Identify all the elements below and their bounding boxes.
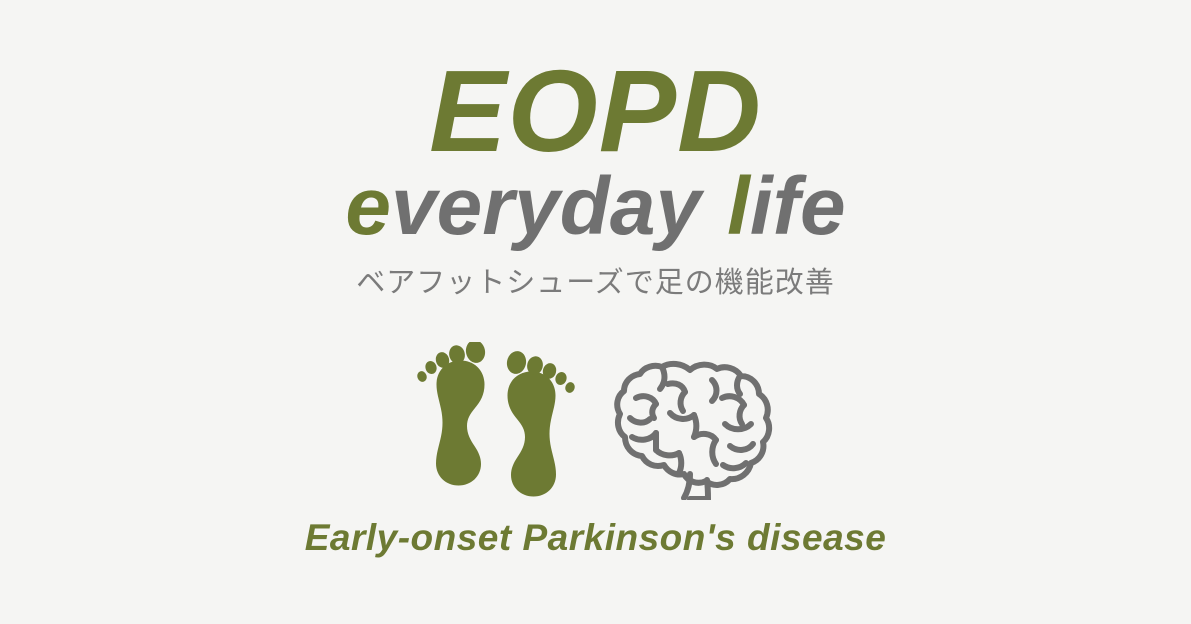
brand-tagline: ベアフットシューズで足の機能改善 [0, 265, 1191, 300]
brain-icon [612, 358, 775, 500]
subtitle-word-life: ife [750, 161, 846, 252]
page-title: EOPD [0, 53, 1191, 169]
logo-banner: EOPD everydaylife ベアフットシューズで足の機能改善 [0, 0, 1191, 624]
brand-caption: Early-onset Parkinson's disease [0, 519, 1191, 556]
subtitle-accent-letter-e: e [345, 161, 391, 252]
footprints-icon [416, 342, 576, 497]
icon-row [0, 342, 1191, 497]
brand-subtitle: everydaylife [0, 166, 1191, 248]
subtitle-word-everyday: veryday [391, 161, 701, 252]
subtitle-accent-letter-l: l [727, 161, 750, 252]
